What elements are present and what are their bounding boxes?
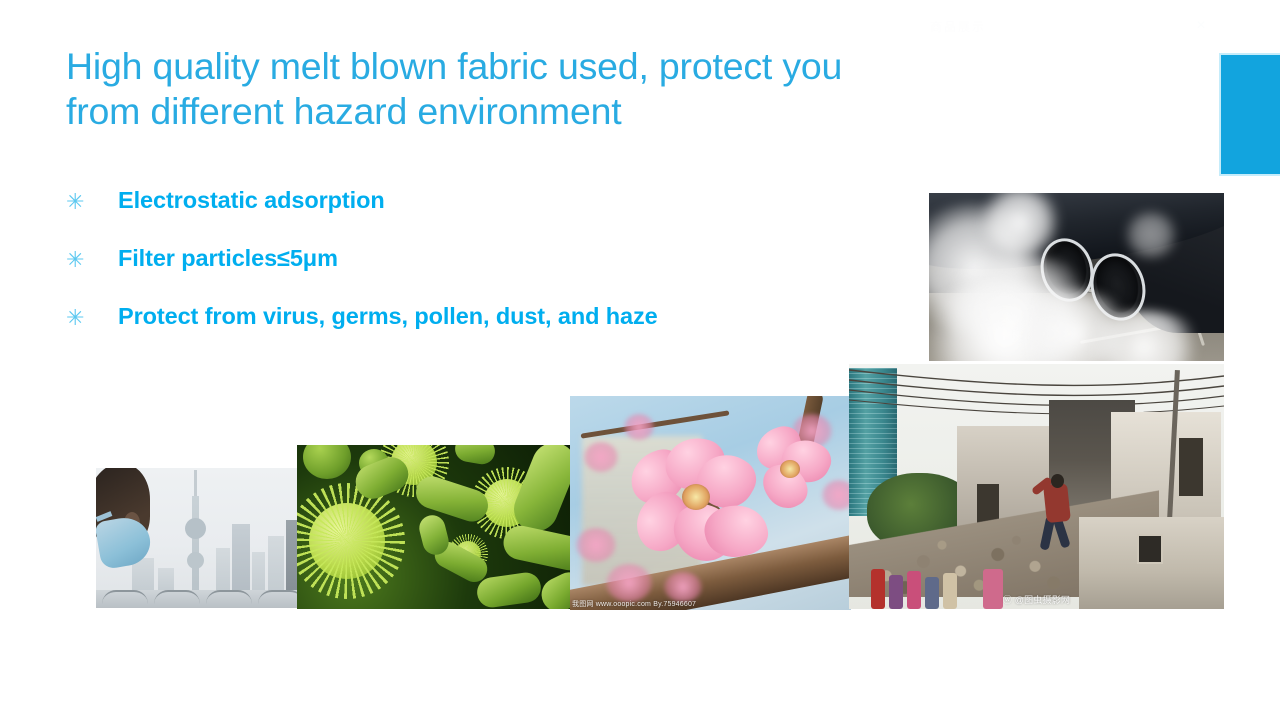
list-item: ✳ Protect from virus, germs, pollen, dus…	[66, 302, 966, 360]
bridge-arch	[154, 590, 200, 604]
photo-watermark: ⓦ @图虫摄影网	[1003, 593, 1070, 606]
smoke-plume	[1121, 211, 1181, 259]
city-building	[216, 548, 230, 592]
list-item: ✳ Filter particles≤5μm	[66, 244, 966, 302]
bullet-label: Protect from virus, germs, pollen, dust,…	[118, 302, 658, 330]
car-exhaust-smoke-photo	[929, 193, 1224, 361]
list-item: ✳ Electrostatic adsorption	[66, 186, 966, 244]
pink-blossom-pollen-photo: 我图网 www.ooopic.com By.75946607	[570, 396, 851, 610]
hanging-laundry	[871, 569, 885, 609]
header-watermark-right: ✕	[1196, 18, 1206, 32]
city-building	[252, 552, 265, 592]
asterisk-bullet-icon: ✳	[66, 244, 118, 274]
hanging-laundry	[907, 571, 921, 609]
slide-canvas: 商品展示 ✕ High quality melt blown fabric us…	[0, 0, 1280, 720]
city-building	[268, 536, 284, 592]
bridge-arch	[206, 590, 252, 604]
blossom-stamen	[780, 460, 800, 478]
background-blossom	[664, 572, 702, 602]
hanging-laundry	[943, 573, 957, 609]
background-blossom	[822, 480, 851, 510]
background-blossom	[624, 414, 654, 440]
oriental-pearl-tower	[192, 496, 199, 592]
background-blossom	[576, 528, 616, 562]
slide-title: High quality melt blown fabric used, pro…	[66, 44, 1006, 134]
header-watermark-left: 商品展示	[930, 18, 986, 35]
bullet-list: ✳ Electrostatic adsorption ✳ Filter part…	[66, 186, 966, 360]
photo-watermark: 我图网 www.ooopic.com By.75946607	[572, 599, 696, 609]
slide-title-line-2: from different hazard environment	[66, 89, 1006, 134]
spiky-virus	[309, 503, 385, 579]
blossom-stamen	[682, 484, 710, 510]
bullet-label: Electrostatic adsorption	[118, 186, 385, 214]
hanging-laundry	[983, 569, 1003, 609]
person-head	[1051, 474, 1064, 488]
slide-title-line-1: High quality melt blown fabric used, pro…	[66, 44, 1006, 89]
asterisk-bullet-icon: ✳	[66, 186, 118, 216]
bridge-arch	[102, 590, 148, 604]
background-blossom	[606, 564, 652, 602]
city-building	[158, 568, 174, 592]
demolition-dust-photo: ⓦ @图虫摄影网	[849, 364, 1224, 609]
bridge-arch	[258, 590, 301, 604]
masked-person-smog-city-photo	[96, 468, 301, 608]
doorway	[1179, 438, 1203, 496]
background-blossom	[584, 442, 618, 472]
hanging-laundry	[925, 577, 939, 609]
person-torso	[1043, 483, 1071, 523]
city-building	[232, 524, 250, 592]
hanging-laundry	[889, 575, 903, 609]
wall-window	[1137, 534, 1163, 564]
asterisk-bullet-icon: ✳	[66, 302, 118, 332]
bridge	[96, 590, 301, 608]
bullet-label: Filter particles≤5μm	[118, 244, 338, 272]
green-microbes-photo	[297, 445, 574, 609]
accent-rectangle	[1221, 55, 1280, 174]
